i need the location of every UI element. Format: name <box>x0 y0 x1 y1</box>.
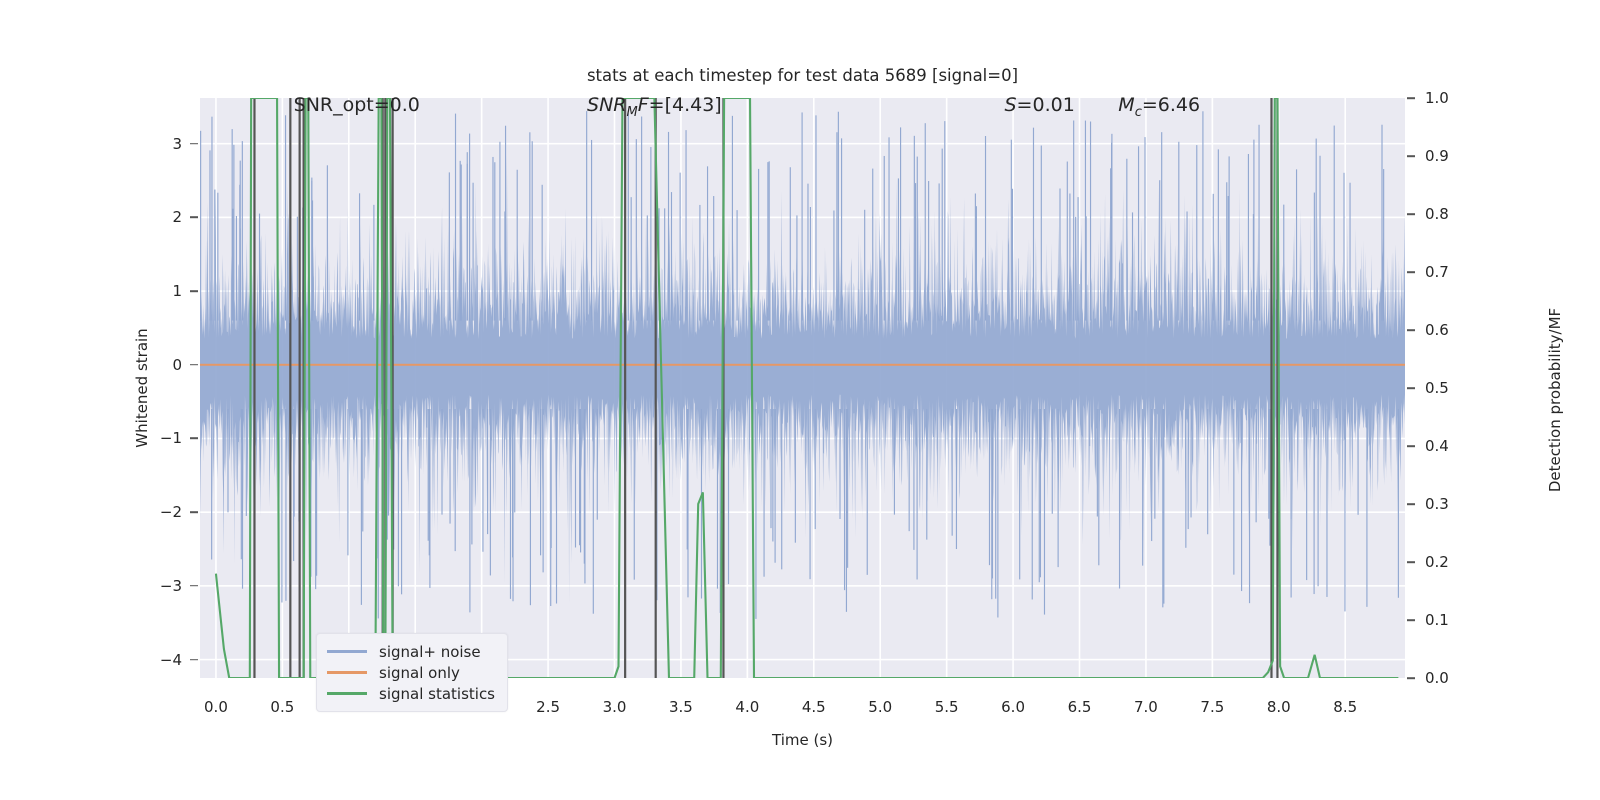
noise-spike <box>728 409 729 584</box>
noise-spike <box>499 142 500 321</box>
noise-spike <box>687 409 688 597</box>
noise-spike <box>530 409 531 605</box>
noise-spike <box>551 409 552 548</box>
noise-spike <box>846 409 847 612</box>
noise-spike <box>1218 149 1219 320</box>
noise-spike <box>939 183 940 320</box>
plot-area <box>200 98 1405 678</box>
y-tick-label-right: 0.8 <box>1425 205 1449 223</box>
noise-spike <box>469 134 470 321</box>
noise-spike <box>1314 409 1315 594</box>
noise-spike <box>650 147 651 321</box>
noise-spike <box>668 132 669 321</box>
noise-spike <box>449 409 450 524</box>
y-tick-label-right: 0.0 <box>1425 669 1449 687</box>
noise-spike <box>455 114 456 321</box>
noise-spike <box>985 136 986 321</box>
noise-spike <box>952 409 953 536</box>
noise-spike <box>373 205 374 321</box>
noise-spike <box>1098 409 1099 565</box>
noise-spike <box>680 173 681 321</box>
y-tick-label-right: 0.4 <box>1425 437 1449 455</box>
noise-spike <box>1032 409 1033 599</box>
y-tick-label-right: 0.9 <box>1425 147 1449 165</box>
noise-spike <box>1144 137 1145 320</box>
y-tick-mark-right <box>1407 445 1415 447</box>
noise-spike <box>1040 409 1041 577</box>
noise-spike <box>540 409 541 555</box>
noise-spike <box>1381 125 1382 321</box>
noise-spike <box>898 178 899 320</box>
noise-spike <box>1069 194 1070 321</box>
legend-color-swatch <box>327 671 367 673</box>
x-tick-label: 3.0 <box>603 698 627 716</box>
noise-spike <box>1228 196 1229 321</box>
chart-legend: signal+ noisesignal onlysignal statistic… <box>316 633 508 712</box>
y-tick-mark-left <box>190 438 198 440</box>
legend-item-label: signal statistics <box>379 685 495 703</box>
noise-spike <box>1154 409 1155 519</box>
y-tick-mark-right <box>1407 677 1415 679</box>
x-tick-label: 5.5 <box>935 698 959 716</box>
noise-spike <box>236 216 237 321</box>
noise-spike <box>1041 146 1042 321</box>
noise-spike <box>732 116 733 321</box>
noise-spike <box>512 409 513 601</box>
noise-spike <box>809 409 810 579</box>
noise-spike <box>311 181 312 321</box>
noise-spike <box>634 409 635 580</box>
noise-spike <box>1233 409 1234 575</box>
noise-spike <box>505 126 506 321</box>
noise-spike <box>925 123 926 320</box>
x-tick-label: 5.0 <box>868 698 892 716</box>
noise-spike <box>888 137 889 320</box>
noise-spike <box>815 409 816 529</box>
signal-only-series <box>200 364 1405 366</box>
noise-spike <box>872 169 873 321</box>
noise-spike <box>214 190 215 321</box>
noise-spike <box>1090 122 1091 321</box>
noise-spike <box>241 409 242 559</box>
legend-item-label: signal+ noise <box>379 643 481 661</box>
noise-spike <box>492 157 493 321</box>
x-tick-label: 6.0 <box>1001 698 1025 716</box>
x-tick-label: 0.5 <box>270 698 294 716</box>
noise-spike <box>1268 409 1269 519</box>
noise-spike <box>1314 193 1315 321</box>
y-tick-label-right: 0.3 <box>1425 495 1449 513</box>
noise-spike <box>1196 145 1197 320</box>
noise-spike <box>944 121 945 320</box>
noise-spike <box>543 409 544 572</box>
noise-spike <box>737 210 738 320</box>
noise-spike <box>701 409 702 599</box>
noise-spike <box>1033 128 1034 321</box>
noise-spike <box>1358 409 1359 515</box>
noise-spike <box>293 409 294 561</box>
x-tick-label: 3.5 <box>669 698 693 716</box>
noise-spike <box>1296 169 1297 320</box>
x-tick-label: 7.5 <box>1200 698 1224 716</box>
noise-spike <box>1343 173 1344 321</box>
noise-spike <box>802 112 803 320</box>
noise-spike <box>775 409 776 563</box>
noise-spike <box>1334 126 1335 321</box>
noise-spike <box>772 409 773 541</box>
noise-spike <box>401 409 402 594</box>
noise-spike <box>556 409 557 604</box>
noise-spike <box>469 409 470 612</box>
noise-spike <box>1178 142 1179 321</box>
noise-spike <box>1213 194 1214 321</box>
noise-spike <box>1383 169 1384 321</box>
noise-spike <box>1059 188 1060 320</box>
noise-spike <box>1190 409 1191 517</box>
noise-spike <box>769 161 770 320</box>
noise-spike <box>699 205 700 321</box>
noise-spike <box>997 409 998 617</box>
noise-spike <box>770 409 771 528</box>
noise-spike <box>240 161 241 321</box>
noise-spike <box>796 215 797 320</box>
noise-spike <box>915 183 916 320</box>
noise-spike <box>1283 205 1284 321</box>
trigger-marker-line <box>289 98 291 678</box>
noise-spike <box>359 193 360 320</box>
noise-spike <box>1185 409 1186 548</box>
noise-spike <box>1188 409 1189 529</box>
annotation-s-stat: S=0.01 <box>1004 94 1074 116</box>
noise-spike <box>844 409 845 590</box>
noise-spike <box>285 115 286 320</box>
noise-spike <box>429 409 430 555</box>
noise-spike <box>795 409 796 543</box>
noise-spike <box>297 217 298 321</box>
noise-spike <box>517 170 518 321</box>
noise-spike <box>989 409 990 565</box>
noise-spike <box>917 157 918 321</box>
noise-spike <box>995 409 996 599</box>
noise-spike <box>327 165 328 320</box>
noise-spike <box>1202 111 1203 320</box>
noise-spike <box>1085 121 1086 321</box>
noise-spike <box>1011 140 1012 321</box>
noise-spike <box>913 409 914 550</box>
noise-spike <box>398 409 399 586</box>
noise-spike <box>1398 409 1399 598</box>
noise-spike <box>542 185 543 321</box>
legend-color-swatch <box>327 650 367 652</box>
noise-spike <box>471 409 472 544</box>
y-tick-label-right: 0.7 <box>1425 263 1449 281</box>
x-tick-label: 0.0 <box>204 698 228 716</box>
noise-spike <box>242 141 243 320</box>
x-tick-label: 7.0 <box>1134 698 1158 716</box>
noise-spike <box>246 409 247 516</box>
y-tick-mark-left <box>190 659 198 661</box>
legend-color-swatch <box>327 692 367 694</box>
noise-spike <box>671 192 672 320</box>
noise-spike <box>914 136 915 321</box>
noise-spike <box>1207 409 1208 534</box>
noise-spike <box>579 409 580 545</box>
trigger-marker-line <box>624 98 626 678</box>
noise-spike <box>790 167 791 320</box>
noise-spike <box>1044 409 1045 615</box>
noise-spike <box>285 409 286 601</box>
noise-spike <box>1132 212 1133 320</box>
noise-spike <box>1186 211 1187 320</box>
noise-spike <box>884 156 885 321</box>
noise-spike <box>864 210 865 321</box>
noise-spike <box>1067 162 1068 321</box>
noise-spike <box>713 196 714 321</box>
noise-spike <box>1258 125 1259 321</box>
noise-spike <box>1058 409 1059 567</box>
noise-spike <box>361 409 362 605</box>
y-tick-label-left: 0 <box>172 356 182 374</box>
noise-spike <box>1073 120 1074 320</box>
noise-spike <box>991 409 992 599</box>
noise-spike <box>388 409 389 516</box>
noise-spike <box>641 117 642 321</box>
chart-title: stats at each timestep for test data 568… <box>200 66 1405 85</box>
noise-spike <box>597 409 598 520</box>
noise-spike <box>209 150 210 320</box>
noise-spike <box>281 409 282 602</box>
annotation-snr-opt: SNR_opt=0.0 <box>294 94 420 116</box>
y-tick-mark-left <box>190 364 198 366</box>
annotation-snr-mf: SNRMF=[4.43] <box>587 94 722 120</box>
noise-spike <box>1291 409 1292 598</box>
noise-spike <box>1249 409 1250 603</box>
noise-spike <box>1138 146 1139 320</box>
noise-spike <box>975 194 976 321</box>
noise-spike <box>1256 409 1257 522</box>
y-tick-mark-right <box>1407 561 1415 563</box>
noise-spike <box>1366 409 1367 607</box>
x-tick-label: 8.0 <box>1267 698 1291 716</box>
noise-spike <box>1126 159 1127 321</box>
noise-spike <box>707 166 708 320</box>
noise-spike <box>1319 156 1320 321</box>
x-tick-label: 4.5 <box>802 698 826 716</box>
y-tick-label-left: −1 <box>160 429 182 447</box>
noise-spike <box>894 409 895 515</box>
y-tick-mark-left <box>190 217 198 219</box>
noise-spike <box>532 141 533 320</box>
legend-item[interactable]: signal+ noise <box>327 641 495 662</box>
noise-spike <box>1248 154 1249 321</box>
noise-spike <box>1078 197 1079 320</box>
noise-spike <box>867 409 868 575</box>
noise-spike <box>1012 189 1013 321</box>
noise-spike <box>227 409 228 512</box>
noise-spike <box>200 131 201 321</box>
y-tick-label-left: −2 <box>160 503 182 521</box>
noise-spike <box>1161 132 1162 320</box>
noise-spike <box>490 409 491 575</box>
noise-spike <box>841 138 842 320</box>
noise-spike <box>1111 143 1112 321</box>
noise-spike <box>815 115 816 320</box>
y-tick-mark-left <box>190 290 198 292</box>
noise-spike <box>584 409 585 564</box>
noise-spike <box>1119 409 1120 540</box>
noise-spike <box>928 181 929 321</box>
noise-spike <box>836 132 837 320</box>
noise-spike <box>487 409 488 534</box>
noise-spike <box>586 111 587 320</box>
noise-spike <box>242 409 243 589</box>
y-tick-label-left: 1 <box>172 282 182 300</box>
noise-spike <box>847 409 848 568</box>
noise-spike <box>839 409 840 519</box>
noise-spike <box>494 162 495 320</box>
x-tick-label: 4.0 <box>735 698 759 716</box>
noise-spike <box>838 112 839 321</box>
noise-spike <box>900 127 901 320</box>
noise-spike <box>460 161 461 321</box>
y-tick-label-left: −3 <box>160 577 182 595</box>
noise-spike <box>591 140 592 321</box>
noise-spike <box>628 113 629 320</box>
noise-spike <box>758 169 759 321</box>
noise-spike <box>473 183 474 321</box>
noise-spike <box>1159 180 1160 320</box>
noise-spike <box>378 409 379 618</box>
noise-spike <box>647 215 648 320</box>
noise-spike <box>926 409 927 540</box>
noise-spike <box>217 193 218 321</box>
legend-item-label: signal only <box>379 664 460 682</box>
noise-spike <box>1349 183 1350 321</box>
noise-spike <box>467 164 468 321</box>
noise-spike <box>1162 409 1163 607</box>
noise-spike <box>942 149 943 321</box>
y-tick-mark-right <box>1407 155 1415 157</box>
noise-spike <box>514 409 515 512</box>
noise-spike <box>1241 409 1242 591</box>
noise-spike <box>1142 409 1143 566</box>
y-tick-mark-right <box>1407 387 1415 389</box>
noise-spike <box>1075 217 1076 321</box>
noise-spike <box>455 409 456 551</box>
y-tick-label-right: 0.1 <box>1425 611 1449 629</box>
x-tick-label: 8.5 <box>1333 698 1357 716</box>
noise-spike <box>1344 409 1345 611</box>
noise-spike <box>211 117 212 321</box>
noise-spike <box>211 409 212 560</box>
y-tick-label-left: 2 <box>172 208 182 226</box>
y-tick-mark-right <box>1407 329 1415 331</box>
noise-spike <box>347 409 348 555</box>
noise-spike <box>1326 409 1327 597</box>
noise-spike <box>636 139 637 320</box>
noise-spike <box>1269 409 1270 546</box>
noise-spike <box>510 409 511 599</box>
y-tick-mark-right <box>1407 619 1415 621</box>
noise-spike <box>631 197 632 320</box>
noise-spike <box>580 409 581 552</box>
noise-spike <box>1316 139 1317 321</box>
x-tick-label: 2.5 <box>536 698 560 716</box>
noise-spike <box>1318 409 1319 586</box>
noise-spike <box>1097 409 1098 517</box>
noise-spike <box>810 207 811 321</box>
noise-spike <box>315 409 316 589</box>
noise-spike <box>685 130 686 320</box>
y-tick-label-left: 3 <box>172 135 182 153</box>
noise-spike <box>909 409 910 531</box>
noise-spike <box>717 409 718 589</box>
y-tick-label-left: −4 <box>160 651 182 669</box>
noise-spike <box>1019 409 1020 579</box>
y-tick-mark-right <box>1407 503 1415 505</box>
noise-spike <box>461 164 462 320</box>
legend-item[interactable]: signal only <box>327 662 495 683</box>
noise-spike <box>1052 409 1053 514</box>
noise-spike <box>664 208 665 320</box>
noise-spike <box>1151 409 1152 541</box>
noise-spike <box>593 409 594 614</box>
y-tick-mark-right <box>1407 271 1415 273</box>
y-tick-label-right: 0.2 <box>1425 553 1449 571</box>
y-tick-mark-left <box>190 511 198 513</box>
noise-spike <box>1039 409 1040 582</box>
noise-spike <box>781 409 782 569</box>
gridline-horizontal <box>200 511 1405 513</box>
noise-spike <box>441 409 442 515</box>
noise-spike <box>428 409 429 541</box>
trigger-marker-line <box>299 98 301 678</box>
noise-spike <box>956 409 957 549</box>
noise-spike <box>763 409 764 577</box>
y-tick-mark-left <box>190 585 198 587</box>
noise-spike <box>917 409 918 579</box>
noise-spike <box>833 210 834 320</box>
noise-spike <box>482 409 483 552</box>
noise-spike <box>232 129 233 320</box>
noise-spike <box>259 214 260 321</box>
noise-spike <box>575 409 576 547</box>
noise-spike <box>362 409 363 531</box>
y-axis-label-right: Detection probability/MF <box>1546 275 1564 525</box>
y-tick-mark-right <box>1407 97 1415 99</box>
noise-spike <box>1253 214 1254 321</box>
noise-spike <box>755 409 756 619</box>
x-tick-label: 6.5 <box>1068 698 1092 716</box>
y-tick-mark-left <box>190 143 198 145</box>
noise-spike <box>767 162 768 320</box>
noise-spike <box>449 172 450 320</box>
x-axis-label: Time (s) <box>200 731 1405 749</box>
y-tick-label-right: 1.0 <box>1425 89 1449 107</box>
noise-spike <box>1163 409 1164 604</box>
y-tick-mark-right <box>1407 213 1415 215</box>
noise-spike <box>1306 409 1307 580</box>
y-axis-label-left: Whitened strain <box>133 308 151 468</box>
trigger-marker-line <box>253 98 255 678</box>
gridline-horizontal <box>200 585 1405 587</box>
noise-spike <box>807 184 808 321</box>
legend-item[interactable]: signal statistics <box>327 683 495 704</box>
noise-spike <box>976 206 977 320</box>
annotation-mchirp: Mc=6.46 <box>1118 94 1200 120</box>
noise-spike <box>529 132 530 320</box>
noise-spike <box>1226 182 1227 320</box>
